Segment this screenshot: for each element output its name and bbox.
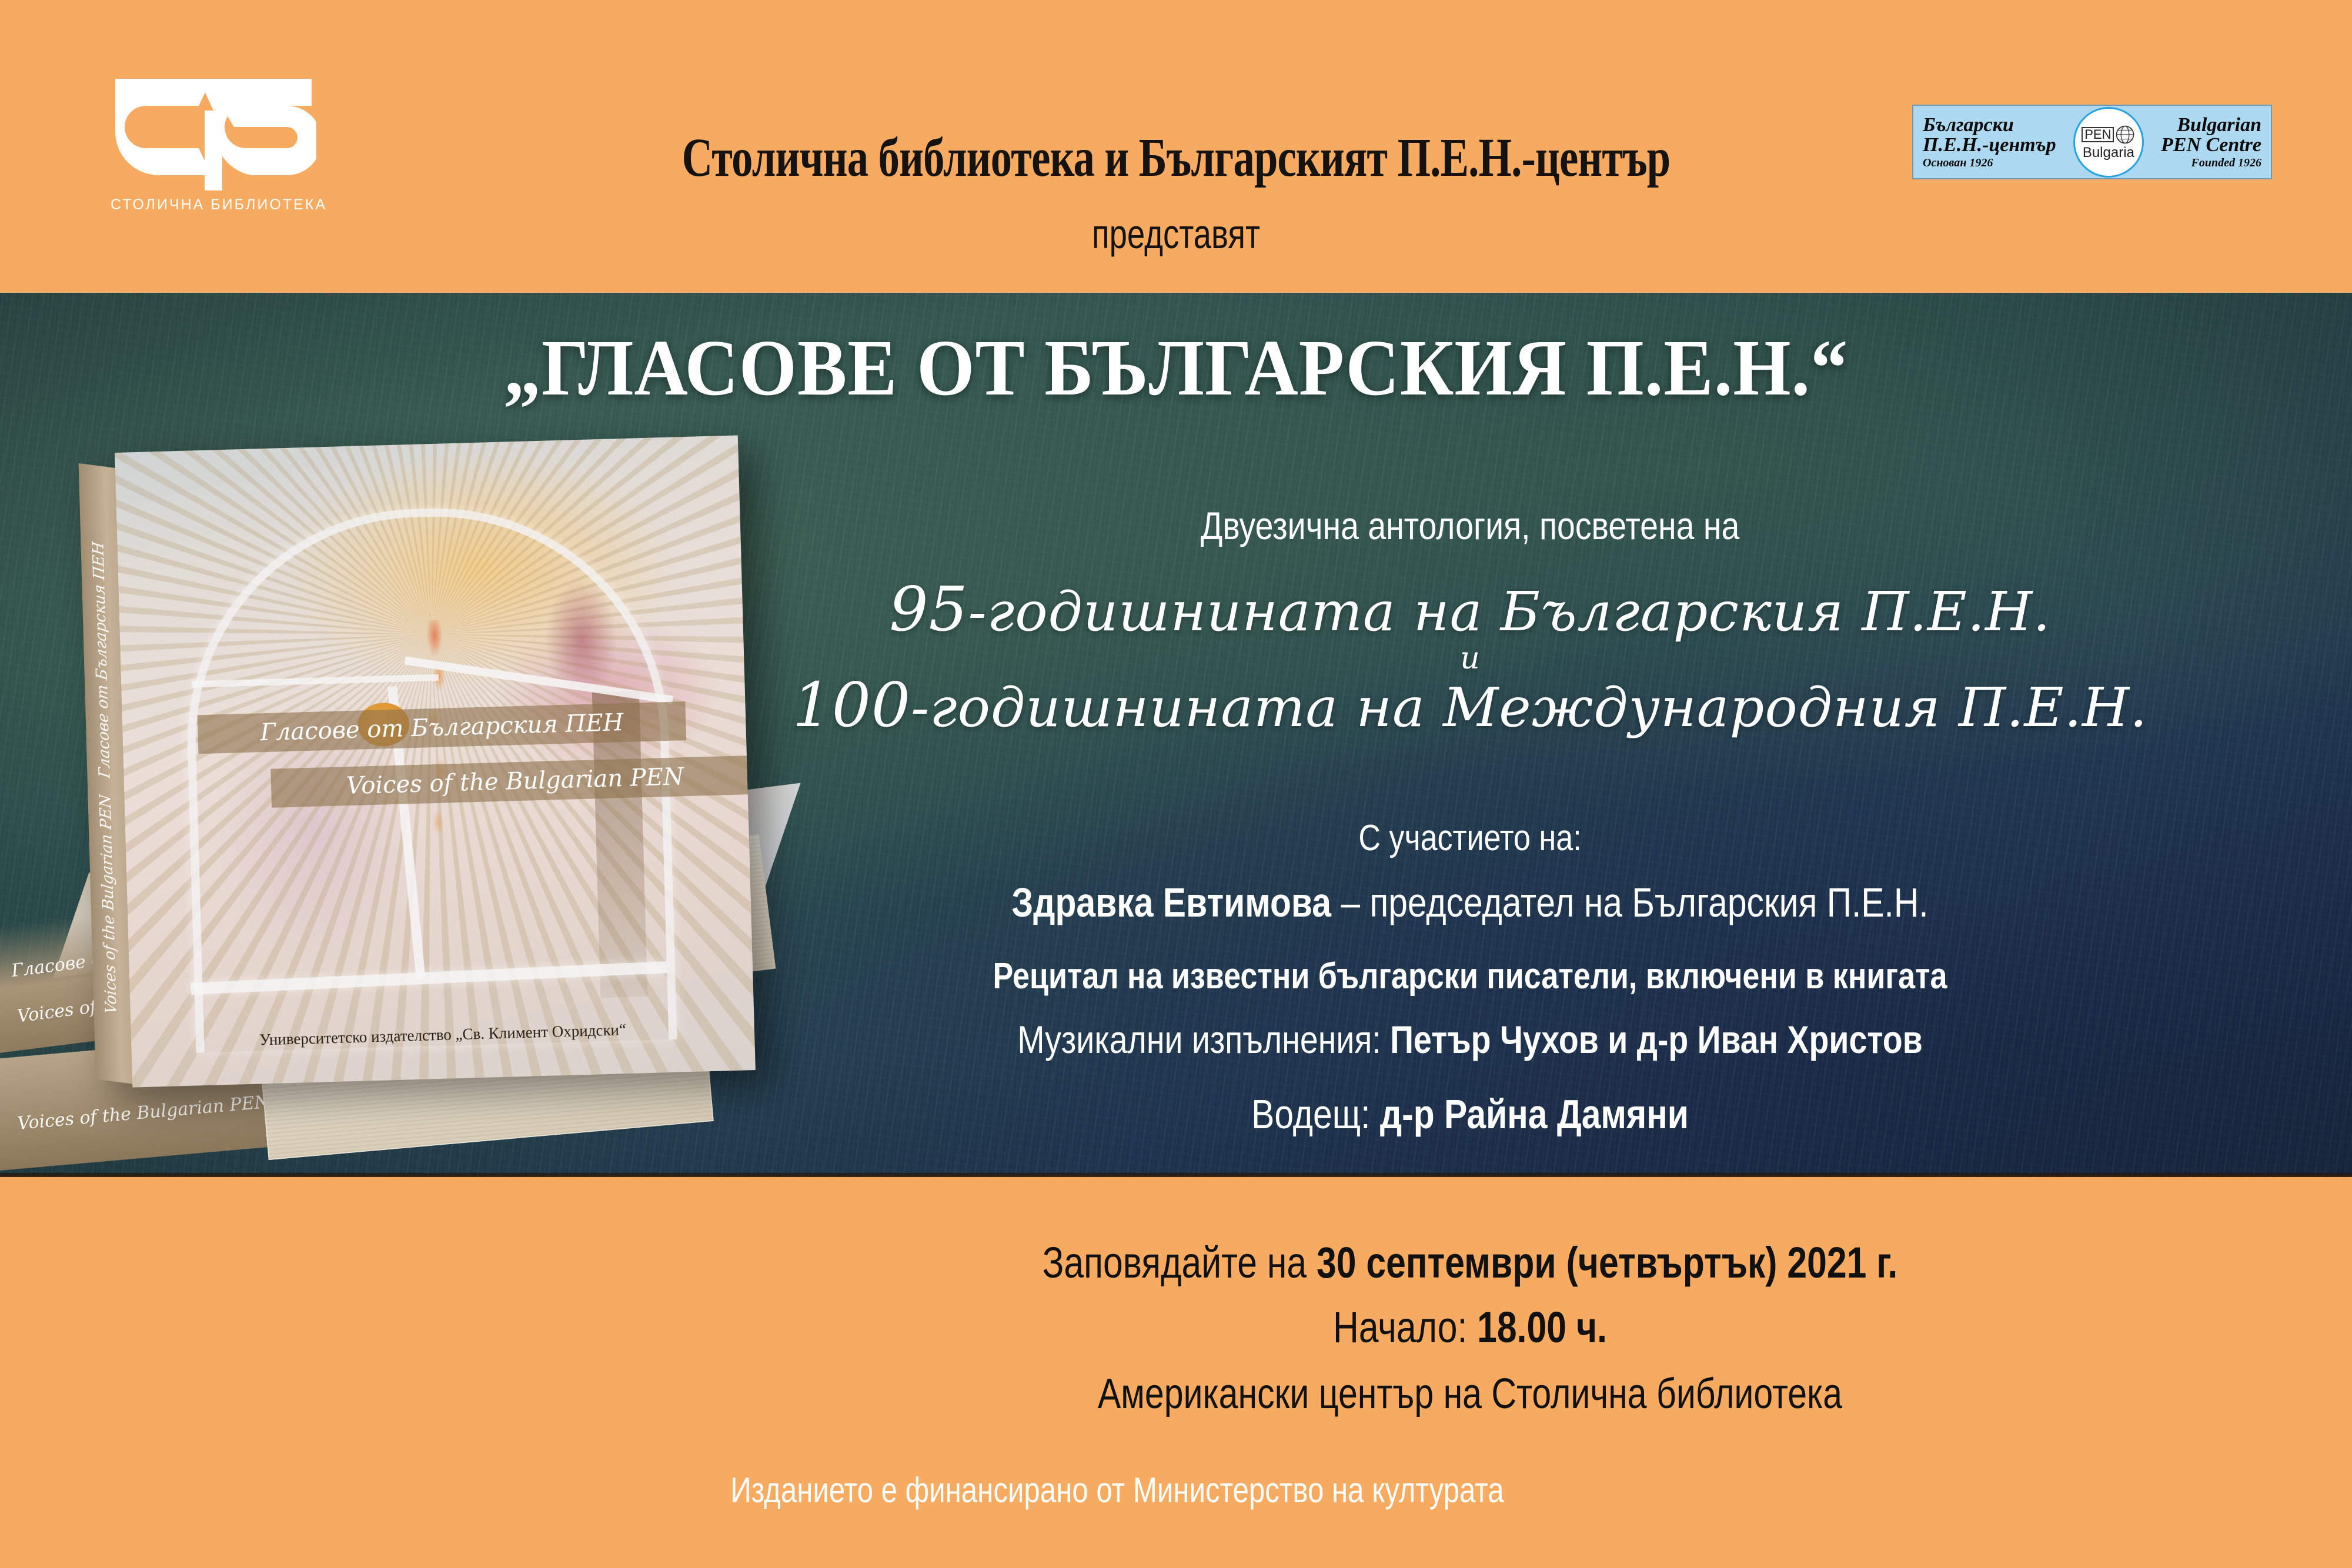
event-venue-line: Американски център на Столична библиотек… [867,1370,2073,1418]
moderator-line: Водещ: д-р Райна Дамяни [853,1091,2087,1138]
music-line: Музикални изпълнения: Петър Чухов и д-р … [853,1017,2087,1062]
present-line: представят [259,210,2093,258]
pen-logo-founded-bg: Основан 1926 [1923,157,2056,169]
page-title: „ГЛАСОВЕ ОТ БЪЛГАРСКИЯ П.Е.Н.“ [82,322,2270,414]
organizers-line: Столична библиотека и Българският П.Е.Н.… [259,126,2093,189]
anniversary-95-number: 95 [889,573,968,645]
with-participation-label: С участието на: [853,817,2087,859]
date-prefix: Заповядайте на [1043,1238,1317,1287]
recital-line: Рецитал на известни български писатели, … [853,955,2087,997]
pen-emblem-country: Bulgaria [2083,146,2134,160]
anthology-intro-line: Двуезична антология, посветена на [853,503,2087,548]
moderator-name: д-р Райна Дамяни [1380,1091,1689,1137]
pen-logo-bulgarian-text: Български П.Е.Н.-център Основан 1926 [1919,115,2056,169]
pen-logo-bg-line1: Български [1923,115,2056,136]
event-date-line: Заповядайте на 30 септември (четвъртък) … [867,1238,2073,1288]
host-name: Здравка Евтимова [1011,880,1331,925]
anniversary-95-text: -годишнината на Българския П.Е.Н. [968,580,2051,643]
funding-note: Изданието е финансирано от Министерство … [539,1470,1696,1510]
music-performers: Петър Чухов и д-р Иван Христов [1390,1018,1923,1061]
pen-logo-en-line1: Bulgarian [2161,115,2261,136]
globe-icon [2115,125,2135,145]
host-line: Здравка Евтимова – председател на Българ… [853,879,2087,926]
date-value: 30 септември (четвъртък) 2021 г. [1317,1238,1897,1287]
anniversary-95-line: 95-годишнината на Българския П.Е.Н. [735,573,2205,645]
pen-emblem-row: PEN [2082,125,2135,145]
pen-logo-bg-line2: П.Е.Н.-център [1923,135,2056,156]
cover-title-bg: Гласове от Българския ПЕН [198,707,686,748]
time-prefix: Начало: [1333,1303,1477,1352]
pen-emblem-word: PEN [2082,127,2114,142]
book-standing-copy: Гласове от Българския ПЕН Voices of the … [115,435,756,1087]
time-value: 18.00 ч. [1477,1303,1607,1352]
event-time-line: Начало: 18.00 ч. [867,1302,2073,1352]
poster-root: СТОЛИЧНА БИБЛИОТЕКА Столична библиотека … [0,0,2352,1568]
pen-logo-founded-en: Founded 1926 [2161,157,2261,169]
anniversary-100-text: -годишнината на Международния П.Е.Н. [911,676,2147,739]
bulgarian-pen-centre-logo: Български П.Е.Н.-център Основан 1926 PEN… [1912,105,2272,179]
host-role: – председател на Българския П.Е.Н. [1331,880,1929,925]
pen-logo-en-line2: PEN Centre [2161,135,2261,156]
moderator-label: Водещ: [1251,1091,1380,1137]
cover-title-en: Voices of the Bulgarian PEN [271,761,756,802]
pen-logo-english-text: Bulgarian PEN Centre Founded 1926 [2161,115,2265,169]
anniversary-100-line: 100-годишнината на Международния П.Е.Н. [735,669,2205,741]
book-bottom-spine-text: Voices of the Bulgarian PEN [16,1092,270,1134]
book-cover-front: Гласове от Българския ПЕН Voices of the … [115,435,756,1087]
pen-emblem: PEN Bulgaria [2073,107,2144,178]
music-label: Музикални изпълнения: [1017,1018,1390,1061]
